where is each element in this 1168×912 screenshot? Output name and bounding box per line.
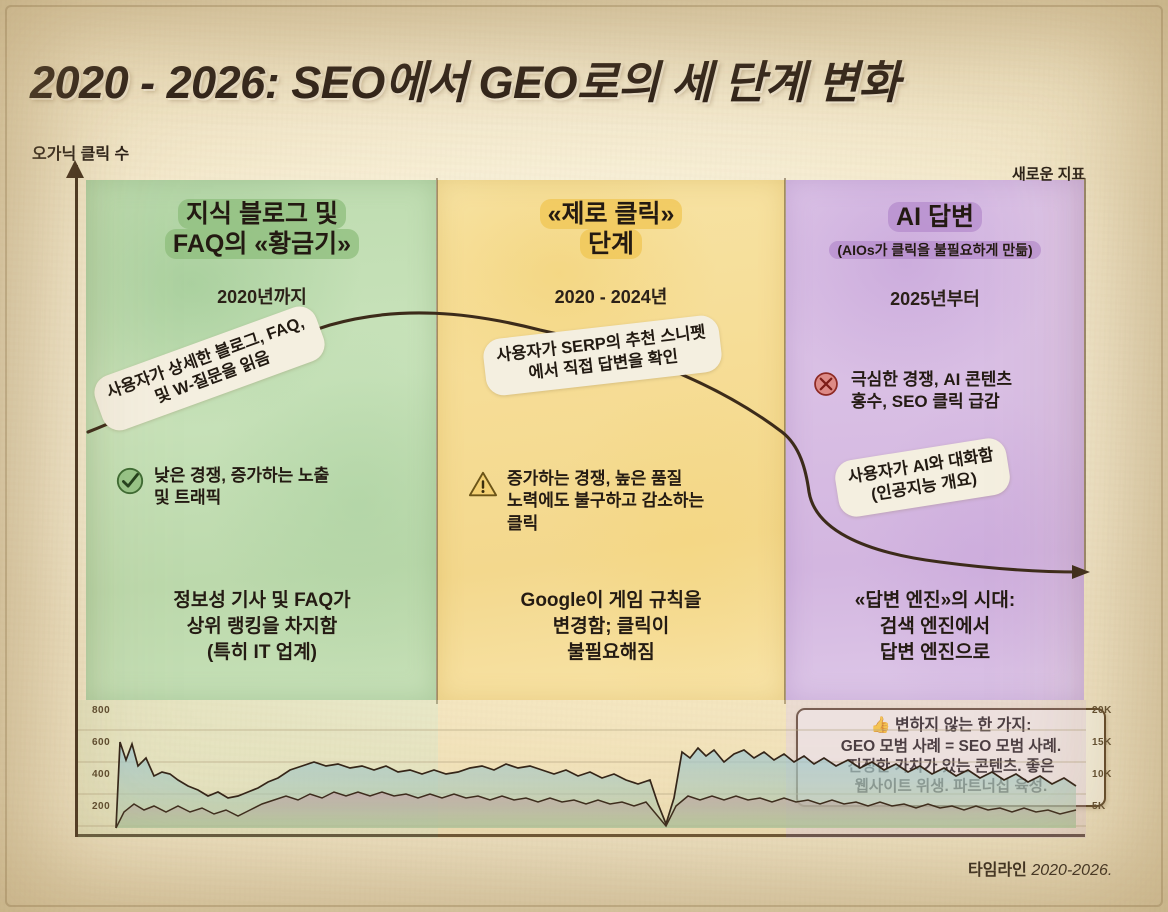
y-axis-arrow-icon (66, 160, 84, 178)
warning-triangle-icon (468, 469, 498, 499)
mini-area-chart (78, 700, 1086, 838)
x-axis-caption-bold: 타임라인 (968, 862, 1027, 879)
x-axis-caption-range: 2020-2026. (1031, 862, 1112, 879)
panel-divider-right (1084, 178, 1086, 570)
mini-chart-rtick-0: 20K (1092, 705, 1112, 716)
x-axis-caption: 타임라인 2020-2026. (968, 856, 1112, 880)
bullet-ai-answers: 극심한 경쟁, AI 콘텐츠 홍수, SEO 클릭 급감 (812, 369, 1082, 414)
right-axis-label: 새로운 지표 (1012, 163, 1085, 184)
mini-chart-ytick-2: 400 (92, 769, 110, 780)
bullet-golden-age-text: 낮은 경쟁, 증가하는 노출 및 트래픽 (154, 465, 329, 510)
bullet-golden-age: 낮은 경쟁, 증가하는 노출 및 트래픽 (115, 465, 425, 510)
bullet-zero-click: 증가하는 경쟁, 높은 품질 노력에도 불구하고 감소하는 클릭 (468, 468, 768, 535)
phase-title-zero-click-line2: 단계 (580, 229, 642, 259)
phase-body-ai-answers: «답변 엔진»의 시대: 검색 엔진에서 답변 엔진으로 (790, 588, 1080, 665)
phase-title-golden-age: 지식 블로그 및 FAQ의 «황금기» (92, 200, 432, 259)
phase-body-golden-age: 정보성 기사 및 FAQ가 상위 랭킹을 차지함 (특히 IT 업계) (92, 588, 432, 665)
phase-body-zero-click: Google이 게임 규칙을 변경함; 클릭이 불필요해짐 (442, 588, 780, 665)
phase-title-zero-click-line1: «제로 클릭» (540, 199, 683, 229)
phase-title-ai-answers-line1: AI 답변 (888, 202, 982, 232)
mini-chart-ytick-3: 200 (92, 801, 110, 812)
mini-chart-rtick-3: 5K (1092, 801, 1106, 812)
mini-chart-ytick-1: 600 (92, 737, 110, 748)
phase-title-golden-age-line2: FAQ의 «황금기» (165, 229, 359, 259)
phase-period-zero-click: 2020 - 2024년 (442, 283, 780, 309)
red-x-circle-icon (812, 370, 842, 400)
bullet-zero-click-text: 증가하는 경쟁, 높은 품질 노력에도 불구하고 감소하는 클릭 (507, 468, 704, 535)
panel-divider-2 (784, 178, 786, 704)
mini-chart-ytick-0: 800 (92, 705, 110, 716)
mini-chart-rtick-1: 15K (1092, 737, 1112, 748)
phase-period-golden-age: 2020년까지 (92, 283, 432, 309)
panel-divider-1 (436, 178, 438, 704)
bullet-ai-answers-text: 극심한 경쟁, AI 콘텐츠 홍수, SEO 클릭 급감 (851, 369, 1012, 414)
page-title: 2020 - 2026: SEO에서 GEO로의 세 단계 변화 (30, 46, 1150, 111)
check-circle-icon (115, 466, 145, 496)
mini-chart-svg (78, 700, 1086, 838)
phase-title-ai-answers: AI 답변 (AIOs가 클릭을 불필요하게 만듦) (790, 203, 1080, 262)
phase-title-ai-answers-line2: (AIOs가 클릭을 불필요하게 만듦) (829, 241, 1040, 260)
phase-title-golden-age-line1: 지식 블로그 및 (178, 199, 346, 229)
phase-period-ai-answers: 2025년부터 (790, 285, 1080, 311)
mini-chart-rtick-2: 10K (1092, 769, 1112, 780)
phase-title-zero-click: «제로 클릭» 단계 (442, 200, 780, 259)
